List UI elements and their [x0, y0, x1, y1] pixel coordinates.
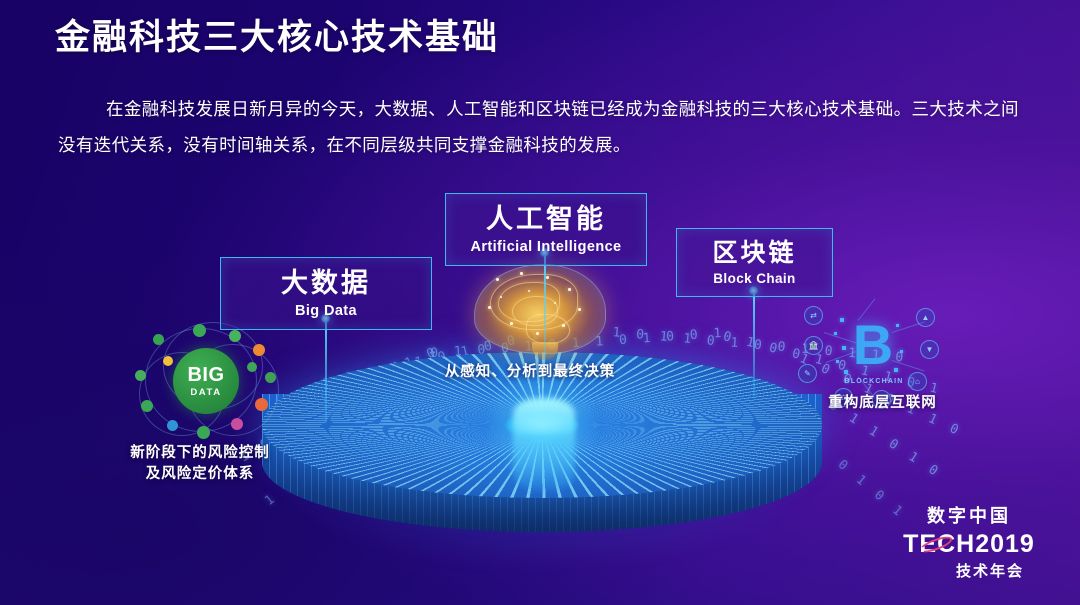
big-data-badge: BIG DATA	[173, 348, 239, 414]
node-icon	[197, 426, 210, 439]
logo-line-3: 技术年会	[936, 560, 1044, 581]
node-icon	[255, 398, 268, 411]
label-box-big-data[interactable]: 大数据 Big Data	[220, 257, 432, 330]
node-icon: ▲	[916, 308, 935, 327]
caption-line: 及风险定价体系	[95, 464, 305, 485]
label-box-artificial-intelligence[interactable]: 人工智能 Artificial Intelligence	[445, 193, 647, 266]
caption-artificial-intelligence: 从感知、分析到最终决策	[424, 362, 636, 383]
node-icon: ⇄	[804, 306, 823, 325]
slide-canvas: 金融科技三大核心技术基础 在金融科技发展日新月异的今天，大数据、人工智能和区块链…	[0, 0, 1080, 605]
label-en-block-chain: Block Chain	[699, 271, 810, 286]
node-icon	[247, 362, 257, 372]
connector-stem-big-data	[325, 318, 327, 422]
big-data-badge-top: BIG	[187, 365, 224, 385]
bitcoin-b-icon: B	[848, 312, 898, 378]
node-icon	[141, 400, 153, 412]
big-data-graphic: BIG DATA	[135, 322, 283, 440]
conference-logo: 数字中国 TECH2019 技术年会	[894, 502, 1044, 581]
logo-line-2: TECH2019	[903, 530, 1035, 559]
connector-stem-ai	[544, 252, 546, 362]
blockchain-graphic: B BLOCKCHAIN ⇄ 🏦 ✎ ⚖ ☺ ⌂ ▼ ▲	[796, 302, 946, 402]
label-en-big-data: Big Data	[243, 303, 409, 319]
label-cn-block-chain: 区块链	[699, 238, 810, 269]
node-icon	[231, 418, 243, 430]
label-en-artificial-intelligence: Artificial Intelligence	[468, 239, 624, 255]
blockchain-wordmark: BLOCKCHAIN	[836, 378, 912, 385]
node-icon	[229, 330, 241, 342]
caption-block-chain: 重构底层互联网	[790, 393, 975, 414]
node-icon: ▼	[920, 340, 939, 359]
caption-big-data: 新阶段下的风险控制 及风险定价体系	[95, 443, 305, 485]
node-icon	[253, 344, 265, 356]
node-icon	[135, 370, 146, 381]
label-cn-big-data: 大数据	[243, 267, 409, 301]
brain-graphic	[466, 256, 614, 364]
node-icon: ✎	[798, 364, 817, 383]
node-icon: 🏦	[804, 336, 823, 355]
label-cn-artificial-intelligence: 人工智能	[468, 203, 624, 237]
connector-stem-block-chain	[753, 290, 755, 398]
node-icon: ⌂	[908, 372, 927, 391]
node-icon	[153, 334, 164, 345]
core-pillar	[513, 398, 575, 490]
node-icon	[265, 372, 276, 383]
logo-line-1: 数字中国	[894, 502, 1044, 528]
label-box-block-chain[interactable]: 区块链 Block Chain	[676, 228, 833, 297]
node-icon	[163, 356, 173, 366]
caption-line: 新阶段下的风险控制	[95, 443, 305, 464]
node-icon	[193, 324, 206, 337]
node-icon	[167, 420, 178, 431]
big-data-badge-bottom: DATA	[190, 387, 221, 398]
